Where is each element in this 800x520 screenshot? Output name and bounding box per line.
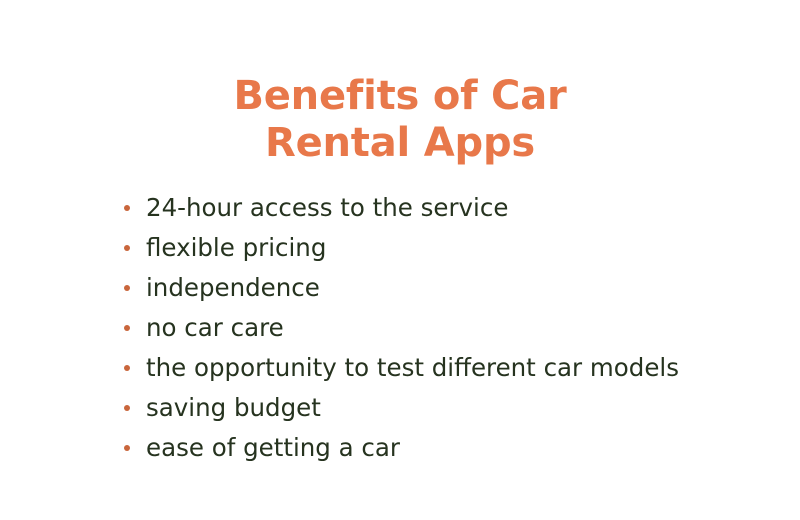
list-item: ease of getting a car (118, 428, 778, 468)
list-item-label: no car care (146, 308, 284, 348)
list-item: the opportunity to test different car mo… (118, 348, 778, 388)
list-item: 24-hour access to the service (118, 188, 778, 228)
list-item-label: 24-hour access to the service (146, 188, 508, 228)
list-item: independence (118, 268, 778, 308)
page-title: Benefits of Car Rental Apps (0, 73, 800, 167)
bullet-dot-icon (124, 205, 130, 211)
list-item: no car care (118, 308, 778, 348)
list-item: flexible pricing (118, 228, 778, 268)
benefits-bullet-list: 24-hour access to the service flexible p… (118, 188, 778, 468)
bullet-dot-icon (124, 245, 130, 251)
list-item-label: saving budget (146, 388, 321, 428)
bullet-dot-icon (124, 365, 130, 371)
list-item-label: ease of getting a car (146, 428, 400, 468)
list-item-label: the opportunity to test different car mo… (146, 348, 679, 388)
slide-canvas: Benefits of Car Rental Apps 24-hour acce… (0, 0, 800, 520)
bullet-dot-icon (124, 285, 130, 291)
list-item: saving budget (118, 388, 778, 428)
list-item-label: flexible pricing (146, 228, 326, 268)
bullet-dot-icon (124, 405, 130, 411)
bullet-dot-icon (124, 325, 130, 331)
bullet-dot-icon (124, 445, 130, 451)
list-item-label: independence (146, 268, 320, 308)
